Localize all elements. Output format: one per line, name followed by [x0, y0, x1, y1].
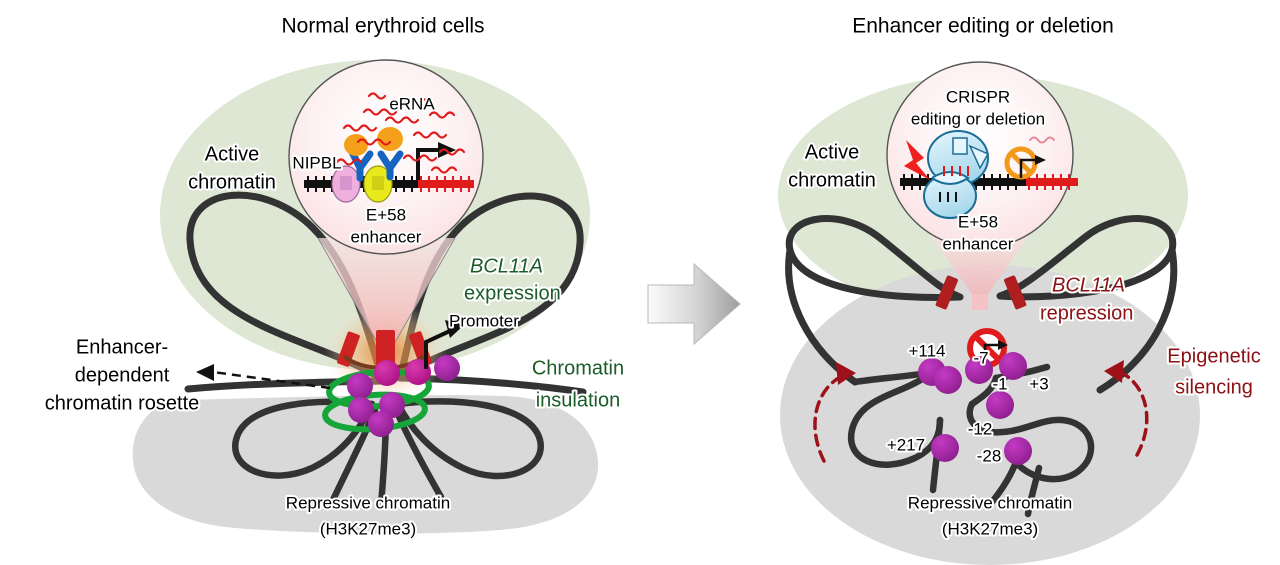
repressive-label-right-l1: Repressive chromatin — [908, 493, 1072, 512]
node-label-minus1: -1 — [992, 374, 1007, 393]
node-label-plus3: +3 — [1029, 374, 1048, 393]
node-plus217 — [931, 434, 959, 462]
node-label-plus217: +217 — [887, 435, 925, 454]
rosette-label-l3: chromatin rosette — [45, 392, 200, 414]
silencing-label-l2: silencing — [1175, 376, 1253, 398]
active-chromatin-label-left-l1: Active — [205, 143, 259, 165]
node-label-minus28: -28 — [977, 446, 1002, 465]
bcl11a-expression-italic: BCL11A — [470, 255, 543, 277]
node-label-plus114: +114 — [908, 341, 945, 360]
rosette-label-l1: Enhancer- — [76, 336, 168, 358]
panel-right-title: Enhancer editing or deletion — [852, 15, 1114, 38]
insulation-label-l1: Chromatin — [532, 357, 624, 379]
promoter-label-left: Promoter — [449, 311, 519, 330]
insulation-label-l2: insulation — [536, 389, 621, 411]
active-chromatin-label-right-l2: chromatin — [788, 169, 876, 191]
repressive-label-left-l2: (H3K27me3) — [320, 519, 416, 538]
node-minus7 — [934, 366, 962, 394]
panel-left: Normal erythroid cells Active chromatin … — [45, 15, 624, 539]
panel-right: Enhancer editing or deletion Active chro… — [778, 15, 1261, 565]
bcl11a-repression-italic: BCL11A — [1052, 274, 1125, 296]
silencing-label-l1: Epigenetic — [1167, 345, 1260, 367]
transition-arrow — [648, 264, 740, 344]
bcl11a-repression-label: repression — [1040, 302, 1133, 324]
active-chromatin-label-right-l1: Active — [805, 141, 859, 163]
rosette-label-l2: dependent — [75, 364, 170, 386]
figure-canvas: Normal erythroid cells Active chromatin … — [0, 0, 1280, 565]
node-minus12 — [986, 391, 1014, 419]
crispr-label-l2: editing or deletion — [911, 109, 1045, 128]
enhancer-label-right-l2: enhancer — [943, 234, 1014, 253]
node-label-minus7: -7 — [973, 348, 988, 367]
panel-left-title: Normal erythroid cells — [281, 15, 484, 38]
repressive-label-left-l1: Repressive chromatin — [286, 493, 450, 512]
nipbl-label: NIPBL — [292, 153, 341, 172]
enhancer-label-right-l1: E+58 — [958, 212, 998, 231]
active-chromatin-label-left-l2: chromatin — [188, 171, 276, 193]
enhancer-label-left-l1: E+58 — [366, 205, 406, 224]
erna-label: eRNA — [389, 94, 435, 113]
node-minus28 — [1004, 437, 1032, 465]
repressive-label-right-l2: (H3K27me3) — [942, 519, 1038, 538]
crispr-label-l1: CRISPR — [946, 87, 1010, 106]
enhancer-label-left-l2: enhancer — [351, 227, 422, 246]
bcl11a-expression-label: expression — [464, 282, 561, 304]
node-label-minus12: -12 — [968, 419, 993, 438]
